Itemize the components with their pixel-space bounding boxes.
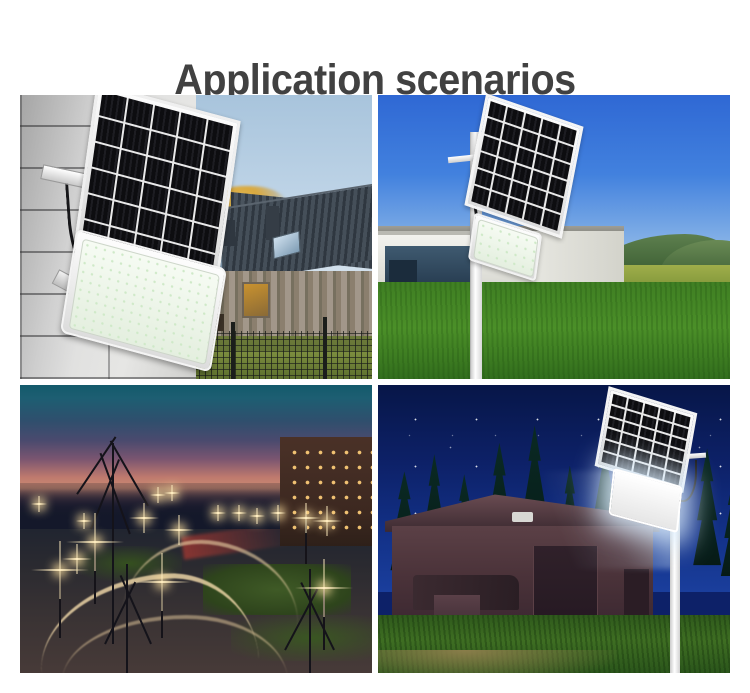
street-lamp-flare: [171, 492, 173, 494]
street-lamp-flare: [83, 520, 85, 522]
street-lamp-flare: [161, 581, 163, 583]
grass-field: [378, 282, 730, 379]
scenario-photo-campus-dusk[interactable]: [20, 385, 372, 673]
tree-silhouette: [309, 569, 312, 673]
street-lamp-flare: [76, 558, 78, 560]
street-lamp-flare: [157, 494, 159, 496]
scenario-photo-wall-mounted-daytime[interactable]: [20, 95, 372, 379]
street-lamp-flare: [59, 569, 61, 571]
fence-post: [323, 317, 327, 379]
house-window: [242, 282, 271, 317]
street-lamp-flare: [277, 512, 279, 514]
street-lamp-flare: [38, 503, 40, 505]
fence-post: [231, 322, 235, 379]
street-lamp-flare: [323, 587, 325, 589]
scenario-gallery: [20, 95, 730, 673]
chimney: [266, 206, 278, 240]
street-lamp-flare: [238, 512, 240, 514]
street-lamp-flare: [94, 541, 96, 543]
tree-silhouette: [126, 564, 129, 673]
solar-cell-grid: [471, 101, 576, 230]
application-scenarios-page: Application scenarios: [0, 0, 750, 693]
street-lamp-flare: [143, 517, 145, 519]
building-windows: [288, 445, 372, 537]
scenario-photo-barn-night[interactable]: [378, 385, 730, 673]
scenario-photo-pole-mounted-field[interactable]: [378, 95, 730, 379]
street-lamp-flare: [178, 529, 180, 531]
street-lamp-flare: [326, 520, 328, 522]
dirt-path: [378, 650, 617, 673]
street-lamp-flare: [305, 517, 307, 519]
street-lamp-flare: [256, 515, 258, 517]
street-lamp-flare: [217, 512, 219, 514]
